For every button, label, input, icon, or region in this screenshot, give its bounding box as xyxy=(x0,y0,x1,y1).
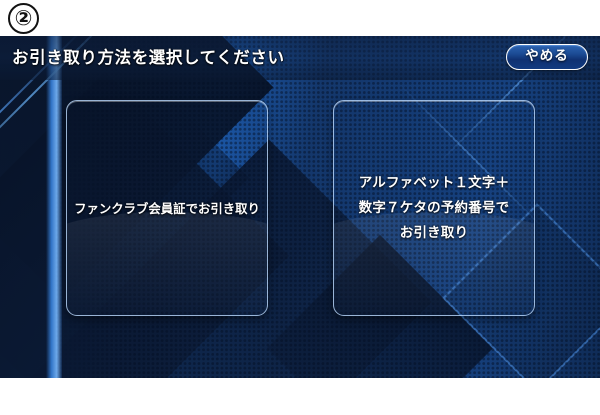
cancel-button[interactable]: やめる xyxy=(506,44,588,70)
option-line: お引き取り xyxy=(340,221,528,246)
option-fan-club-card[interactable]: ファンクラブ会員証でお引き取り xyxy=(66,100,268,316)
step-number-badge: ② xyxy=(8,3,39,34)
bottom-strip xyxy=(0,378,600,415)
page-title: お引き取り方法を選択してください xyxy=(12,44,285,68)
option-reservation-number-label: アルファベット１文字＋ 数字７ケタの予約番号で お引き取り xyxy=(334,171,534,246)
option-fan-club-card-label: ファンクラブ会員証でお引き取り xyxy=(67,196,267,221)
screen: ② お引き取り方法を選択してください やめる ファンクラブ会員証でお引き取り xyxy=(0,0,600,415)
top-strip: ② xyxy=(0,0,600,36)
option-line: ファンクラブ会員証でお引き取り xyxy=(73,196,261,221)
geometry-line-e xyxy=(0,319,138,378)
option-line: 数字７ケタの予約番号で xyxy=(340,196,528,221)
option-line: アルファベット１文字＋ xyxy=(340,171,528,196)
geometry-left-ribbon xyxy=(46,36,62,378)
option-reservation-number[interactable]: アルファベット１文字＋ 数字７ケタの予約番号で お引き取り xyxy=(333,100,535,316)
cancel-button-label: やめる xyxy=(507,45,587,68)
